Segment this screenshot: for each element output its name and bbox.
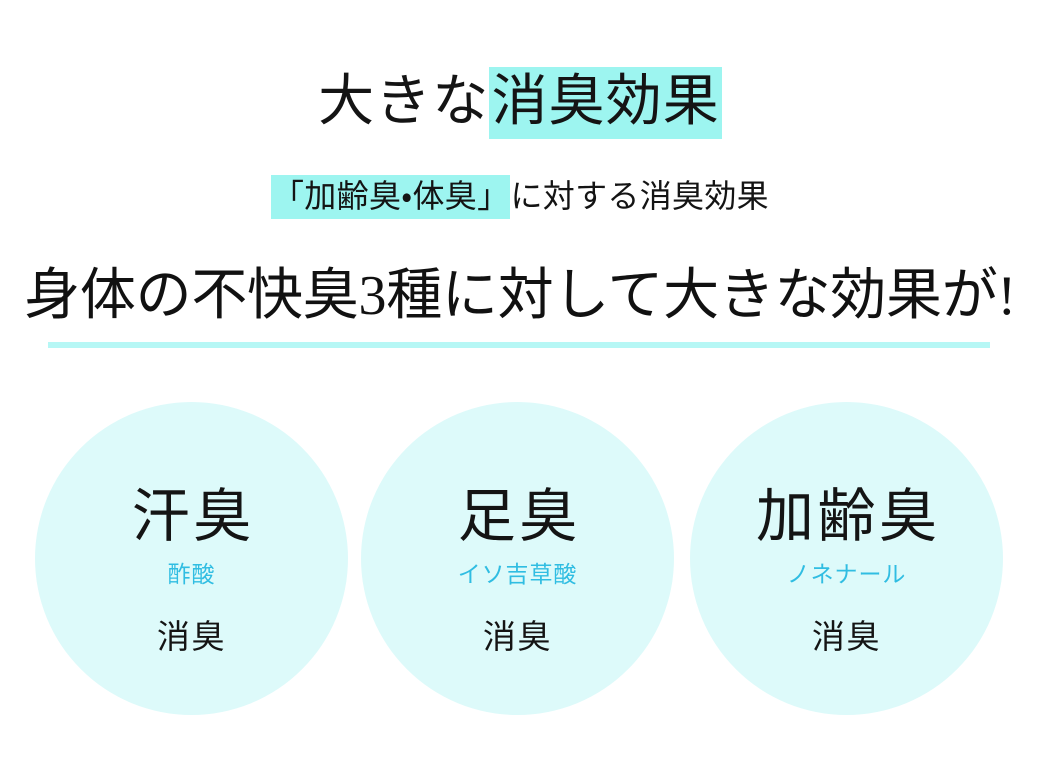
odor-compound: 酢酸	[168, 563, 216, 586]
page-subtitle: 「加齢臭・体臭」に対する消臭効果	[0, 180, 1040, 212]
headline: 身体の不快臭3種に対して大きな効果が!	[0, 268, 1040, 324]
page-title-prefix: 大きな	[318, 71, 489, 133]
odor-effect: 消臭	[483, 622, 552, 655]
page-title-highlight: 消臭効果	[489, 67, 721, 139]
odor-card-sweat: 汗臭 酢酸 消臭	[35, 402, 348, 715]
headline-text: 身体の不快臭3種に対して大きな効果が!	[24, 265, 1016, 327]
odor-compound: ノネナール	[787, 563, 907, 586]
page-title: 大きな消臭効果	[0, 74, 1040, 130]
odor-card-aging: 加齢臭 ノネナール 消臭	[690, 402, 1003, 715]
odor-name: 足臭	[454, 488, 580, 546]
odor-card-content: 足臭 イソ吉草酸 消臭	[361, 402, 674, 715]
odor-effect: 消臭	[812, 622, 881, 655]
promo-panel: 大きな消臭効果 「加齢臭・体臭」に対する消臭効果 身体の不快臭3種に対して大きな…	[0, 0, 1040, 780]
odor-effect: 消臭	[157, 622, 226, 655]
odor-card-content: 汗臭 酢酸 消臭	[35, 402, 348, 715]
odor-card-foot: 足臭 イソ吉草酸 消臭	[361, 402, 674, 715]
odor-card-content: 加齢臭 ノネナール 消臭	[690, 402, 1003, 715]
odor-name: 加齢臭	[753, 488, 941, 546]
headline-underline-bar	[48, 342, 990, 348]
page-subtitle-suffix: に対する消臭効果	[510, 178, 769, 214]
odor-card-row: 汗臭 酢酸 消臭 足臭 イソ吉草酸 消臭 加齢臭 ノネナール 消臭	[0, 402, 1040, 722]
page-subtitle-highlight: 「加齢臭・体臭」	[271, 175, 510, 219]
odor-compound: イソ吉草酸	[458, 563, 578, 586]
odor-name: 汗臭	[128, 488, 254, 546]
